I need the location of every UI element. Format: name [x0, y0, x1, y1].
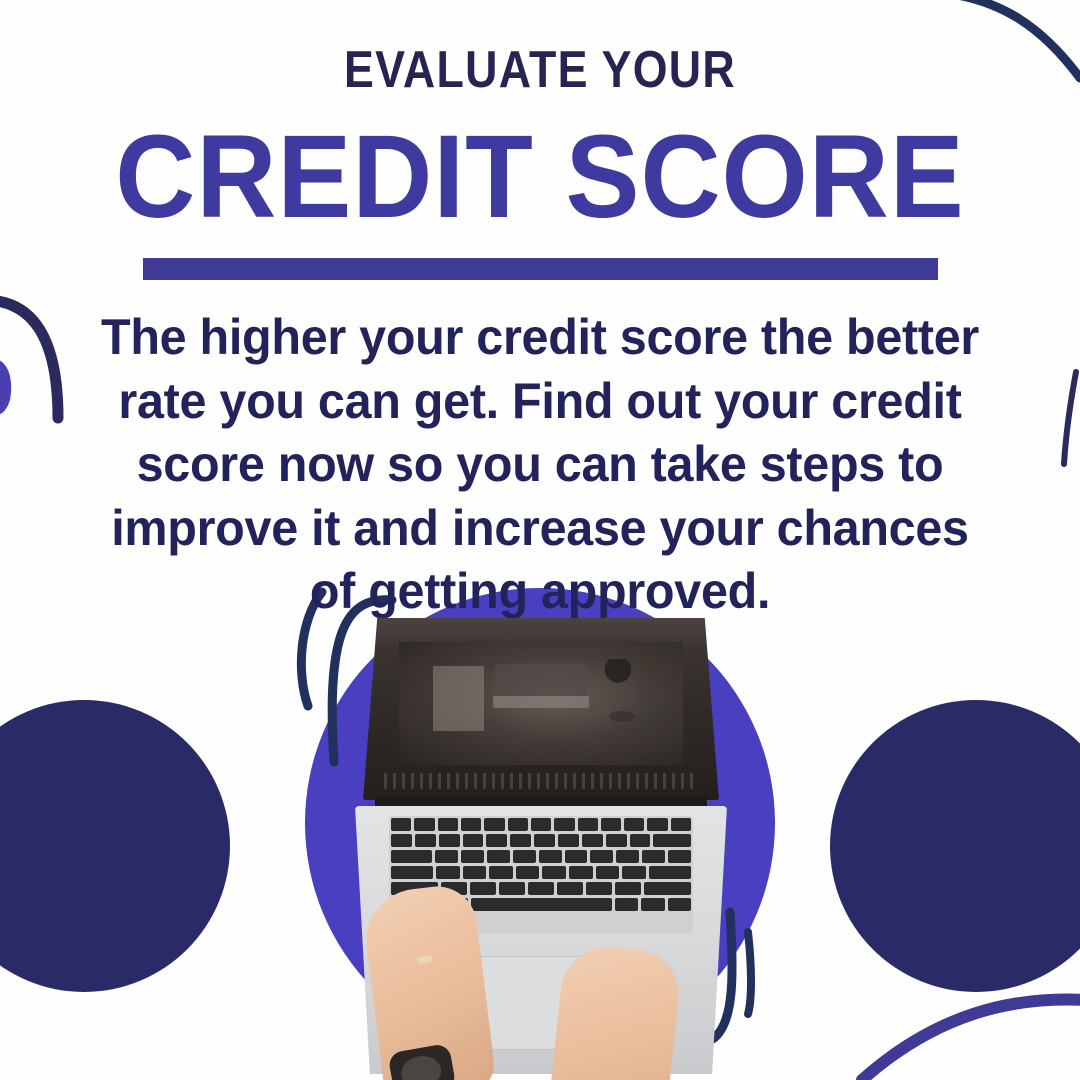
key — [470, 882, 496, 895]
key — [391, 818, 411, 831]
key — [622, 866, 646, 879]
key-backspace — [653, 834, 691, 847]
key — [606, 834, 627, 847]
squiggle-right-inner-icon — [748, 932, 751, 1014]
page-title: CREDIT SCORE — [32, 96, 1047, 236]
key — [624, 818, 644, 831]
key — [528, 882, 554, 895]
keyboard-row — [391, 850, 691, 863]
key — [554, 818, 574, 831]
key — [558, 834, 579, 847]
poster-canvas: EVALUATE YOUR CREDIT SCORE The higher yo… — [0, 0, 1080, 1080]
screen-paper-icon — [433, 666, 484, 730]
key-shift-right — [644, 882, 691, 895]
key — [414, 818, 434, 831]
key — [601, 818, 621, 831]
title-underline-bar — [143, 258, 938, 280]
body-paragraph: The higher your credit score the better … — [84, 306, 996, 624]
key — [668, 898, 692, 911]
key — [510, 834, 531, 847]
key — [463, 866, 487, 879]
key — [461, 850, 484, 863]
key — [615, 882, 641, 895]
screen-plant-icon — [598, 659, 638, 701]
key — [578, 818, 598, 831]
key-spacebar — [471, 898, 612, 911]
laptop-bezel-strip — [384, 773, 697, 789]
key — [596, 866, 620, 879]
screen-inner-keyboard-icon — [493, 696, 590, 708]
key — [557, 882, 583, 895]
key — [489, 866, 513, 879]
key — [461, 818, 481, 831]
laptop-lid — [363, 618, 719, 800]
key — [668, 850, 691, 863]
key — [671, 818, 691, 831]
key — [616, 850, 639, 863]
key — [516, 866, 540, 879]
key-enter — [649, 866, 691, 879]
key-caps — [391, 866, 433, 879]
screen-cup-icon — [609, 711, 635, 722]
watch-face — [399, 1053, 444, 1080]
key — [615, 898, 639, 911]
key — [391, 834, 412, 847]
laptop-photo — [355, 618, 727, 1080]
key — [534, 834, 555, 847]
key — [531, 818, 551, 831]
screen-inner-laptop-icon — [495, 664, 586, 696]
key-tab — [391, 850, 432, 863]
key — [582, 834, 603, 847]
keyboard-row — [391, 818, 691, 831]
key — [647, 818, 667, 831]
key — [539, 850, 562, 863]
key — [630, 834, 651, 847]
key — [435, 850, 458, 863]
headline-block: EVALUATE YOUR CREDIT SCORE The higher yo… — [0, 0, 1080, 624]
key — [499, 882, 525, 895]
key — [438, 818, 458, 831]
key — [513, 850, 536, 863]
eyebrow-text: EVALUATE YOUR — [76, 0, 1005, 96]
laptop-screen — [399, 642, 684, 766]
arc-bottom-right-icon — [862, 999, 1080, 1080]
key — [586, 882, 612, 895]
key — [436, 866, 460, 879]
key — [439, 834, 460, 847]
key — [641, 898, 665, 911]
key — [415, 834, 436, 847]
key — [486, 834, 507, 847]
key — [463, 834, 484, 847]
key — [542, 866, 566, 879]
key — [642, 850, 665, 863]
key — [569, 866, 593, 879]
key — [484, 818, 504, 831]
key — [508, 818, 528, 831]
key — [565, 850, 588, 863]
keyboard-row — [391, 834, 691, 847]
key — [487, 850, 510, 863]
keyboard-row — [391, 866, 691, 879]
key — [590, 850, 613, 863]
